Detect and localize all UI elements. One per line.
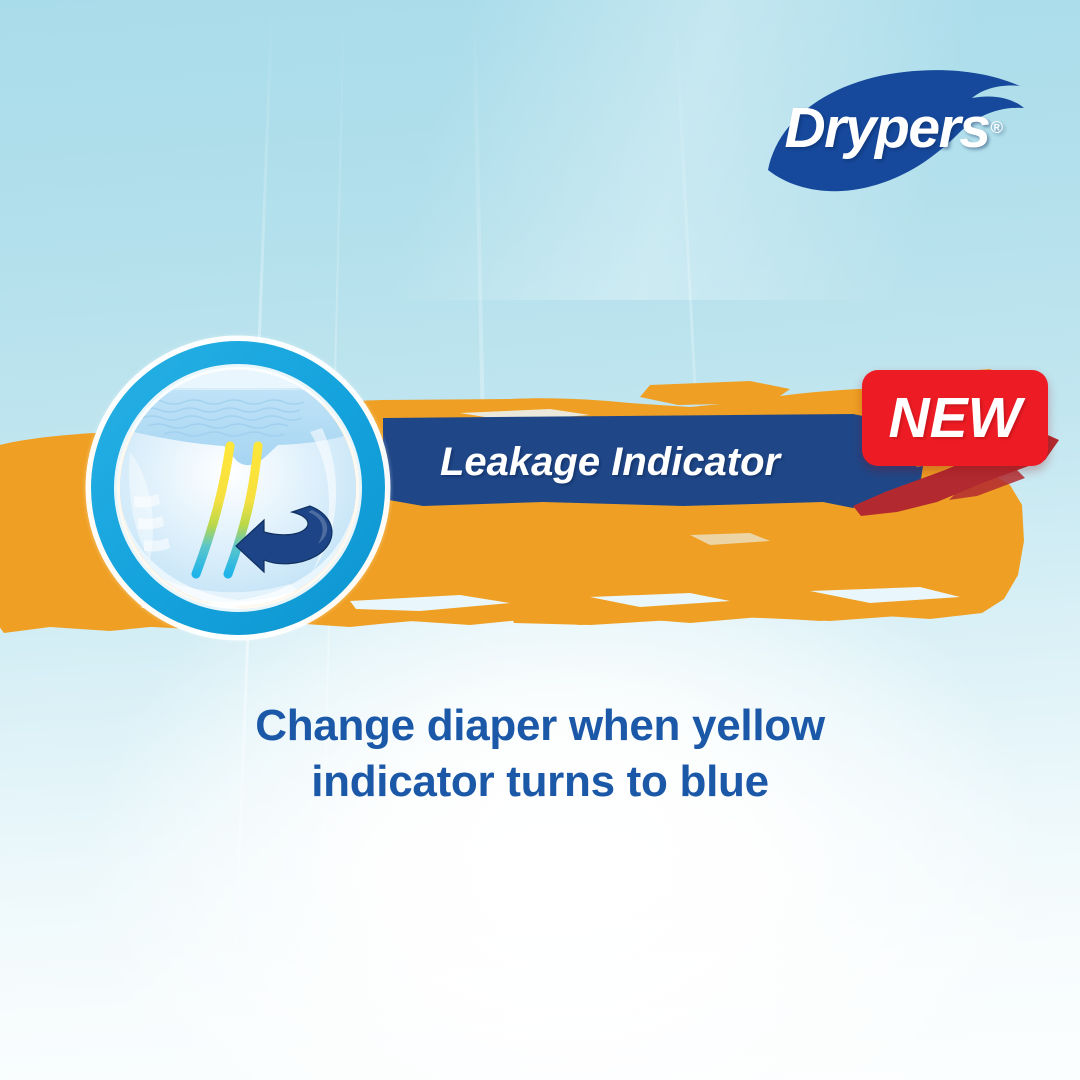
tagline-line-2: indicator turns to blue [140, 754, 940, 810]
tagline-line-1: Change diaper when yellow [255, 701, 825, 750]
brand-logo: Drypers® [762, 58, 1030, 198]
leakage-indicator-illustration [78, 328, 398, 648]
new-badge-label: NEW [862, 370, 1048, 466]
logo-brand-name: Drypers [785, 95, 990, 161]
ad-canvas: Leakage Indicator NEW [0, 0, 1080, 1080]
logo-wordmark: Drypers® [762, 58, 1030, 198]
banner-label: Leakage Indicator [440, 431, 860, 493]
registered-trademark-icon: ® [990, 118, 1001, 138]
tagline: Change diaper when yellow indicator turn… [140, 698, 940, 811]
